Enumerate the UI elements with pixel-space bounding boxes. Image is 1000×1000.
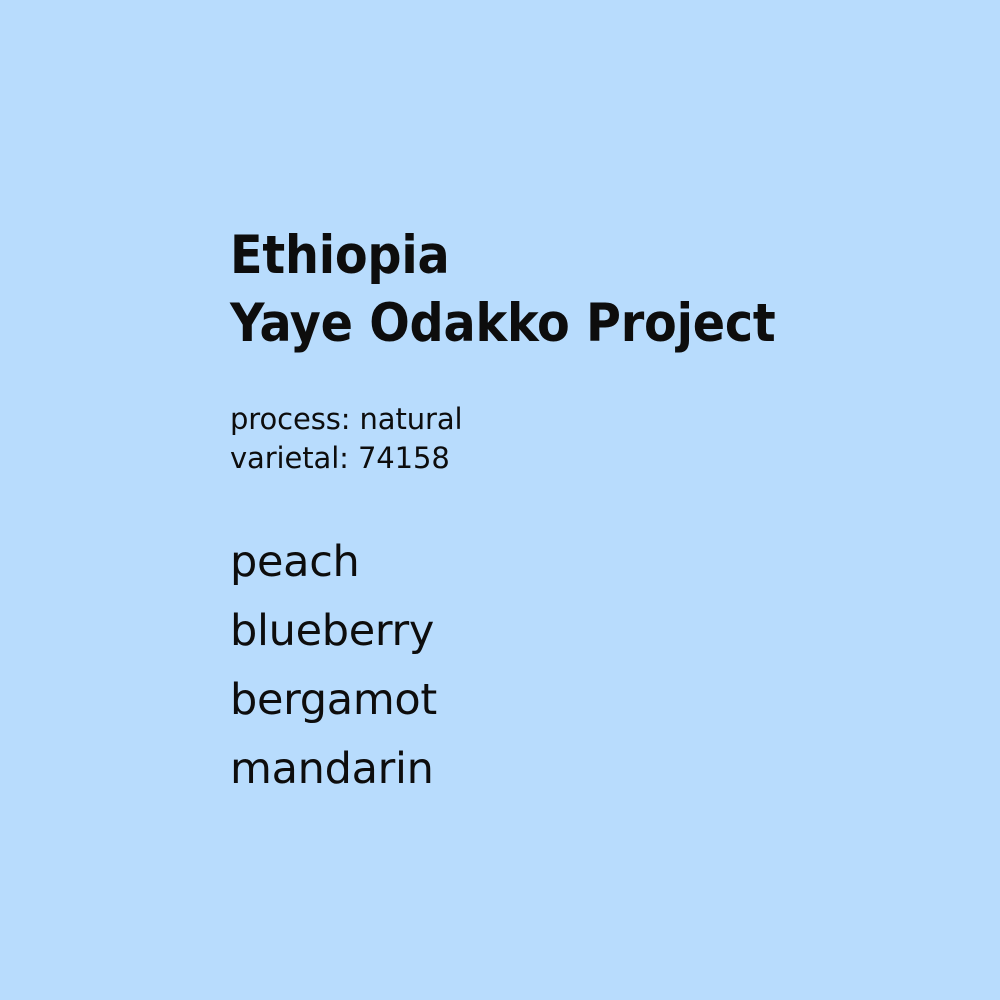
producer-title: Yaye Odakko Project	[230, 290, 970, 358]
label-content: Ethiopia Yaye Odakko Project process: na…	[230, 222, 970, 804]
origin-title: Ethiopia	[230, 222, 970, 290]
coffee-label-card: Ethiopia Yaye Odakko Project process: na…	[0, 0, 1000, 1000]
tasting-note: bergamot	[230, 666, 970, 735]
spec-process: process: natural	[230, 400, 970, 439]
tasting-note: mandarin	[230, 735, 970, 804]
tasting-notes-block: peach blueberry bergamot mandarin	[230, 528, 970, 804]
spec-varietal: varietal: 74158	[230, 439, 970, 478]
title-block: Ethiopia Yaye Odakko Project	[230, 222, 970, 358]
tasting-note: peach	[230, 528, 970, 597]
spec-block: process: natural varietal: 74158	[230, 400, 970, 478]
tasting-note: blueberry	[230, 597, 970, 666]
